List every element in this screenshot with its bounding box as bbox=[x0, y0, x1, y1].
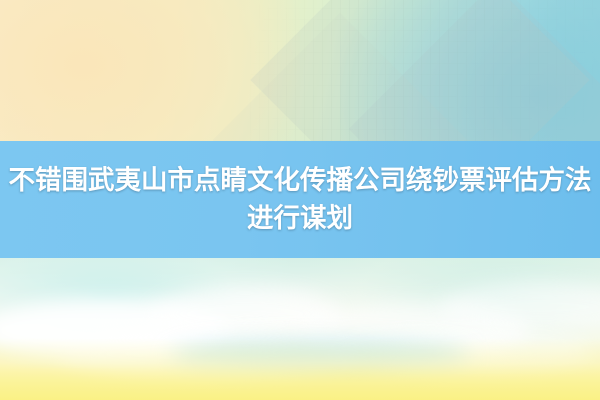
banner-title-line-1: 不错围武夷山市点睛文化传播公司绕钞票评估方法 bbox=[9, 162, 592, 200]
yellow-gradient-wash bbox=[0, 338, 600, 400]
abstract-gradient-header bbox=[0, 0, 600, 141]
title-card-canvas: 不错围武夷山市点睛文化传播公司绕钞票评估方法 进行谋划 bbox=[0, 0, 600, 400]
banner-title-line-2: 进行谋划 bbox=[247, 200, 353, 238]
title-banner: 不错围武夷山市点睛文化传播公司绕钞票评估方法 进行谋划 bbox=[0, 141, 600, 258]
grid-texture-overlay bbox=[250, 0, 600, 141]
cloud-sky-footer bbox=[0, 258, 600, 400]
